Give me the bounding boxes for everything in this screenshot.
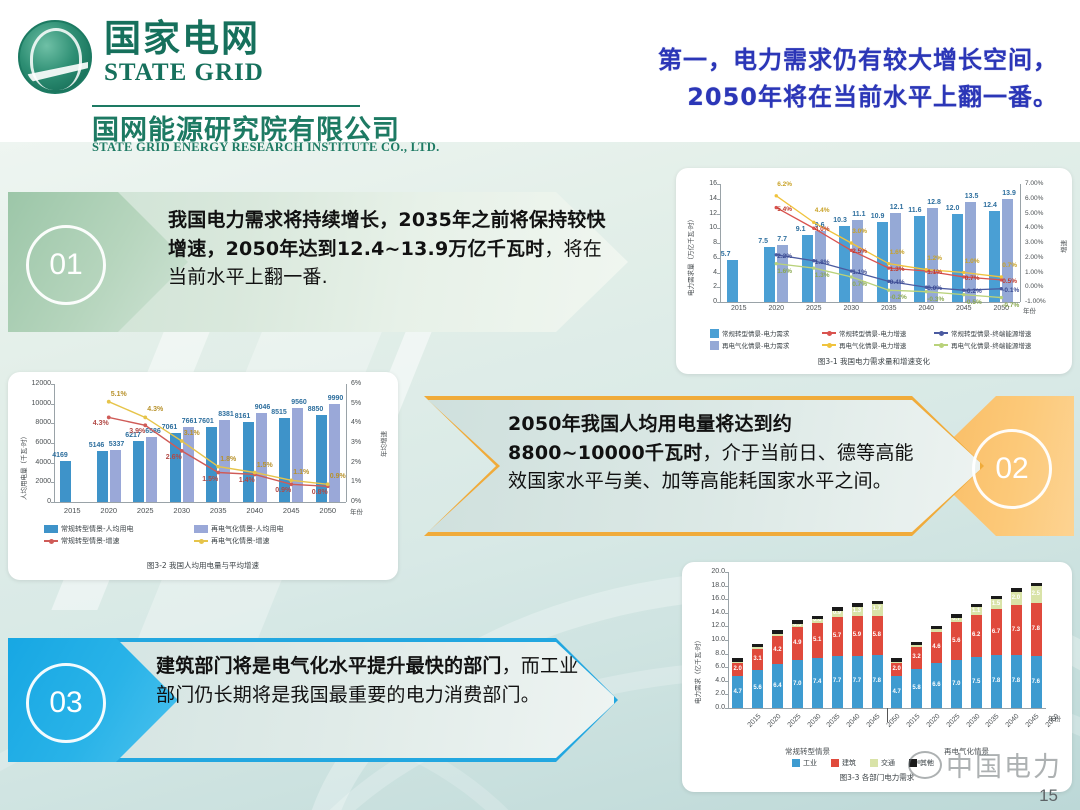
legend-item[interactable]: 常规转型情景-增速 xyxy=(44,536,194,546)
segment-value-label[interactable]: 2.0 xyxy=(733,666,741,672)
segment-value-label[interactable]: 7.8 xyxy=(1032,626,1040,632)
segment-value-label[interactable]: 5.1 xyxy=(813,637,821,643)
pct-label-conventional[interactable]: 0.9% xyxy=(275,487,291,494)
bar-value-label[interactable]: 7.5 xyxy=(758,238,768,245)
segment-value-label[interactable]: 7.8 xyxy=(873,678,881,684)
y2-tick-label[interactable]: 5% xyxy=(351,400,361,407)
x-tick-label[interactable]: 2045 xyxy=(1025,713,1041,729)
segment-value-label[interactable]: 7.0 xyxy=(793,681,801,687)
y-tick-label[interactable]: 10.0 xyxy=(706,636,725,643)
legend-swatch[interactable] xyxy=(710,341,719,350)
y-tick[interactable] xyxy=(725,599,728,600)
stack-segment-other[interactable] xyxy=(931,626,942,629)
y-tick[interactable] xyxy=(725,694,728,695)
y-tick-label[interactable]: 10 xyxy=(704,224,717,231)
y-tick-label[interactable]: 2.0 xyxy=(706,690,725,697)
x-tick-label[interactable]: 2050 xyxy=(886,713,902,729)
segment-value-label[interactable]: 3.2 xyxy=(912,654,920,660)
bar-reelectrification[interactable] xyxy=(329,404,340,502)
pct-label[interactable]: 0.4% xyxy=(890,279,905,286)
legend-label[interactable]: 常规转型情景-电力需求 xyxy=(722,328,789,338)
bar-reelectrification[interactable] xyxy=(890,213,901,302)
bar-value-label[interactable]: 12.1 xyxy=(890,204,904,211)
pct-label-conventional[interactable]: 3.9% xyxy=(129,428,145,435)
x-tick-label[interactable]: 2025 xyxy=(786,713,802,729)
y-tick[interactable] xyxy=(725,708,728,709)
pct-label-reelectrification[interactable]: 5.1% xyxy=(111,391,127,398)
legend-line[interactable] xyxy=(822,344,836,346)
stack-segment-other[interactable] xyxy=(812,616,823,619)
bar-reelectrification[interactable] xyxy=(256,413,267,502)
segment-value-label[interactable]: 6.7 xyxy=(992,629,1000,635)
bar-value-label[interactable]: 7061 xyxy=(162,424,178,431)
bar-conventional[interactable] xyxy=(97,451,108,502)
y2-tick-label[interactable]: 4% xyxy=(351,419,361,426)
bar-value-label[interactable]: 8161 xyxy=(235,413,251,420)
x-tick-label[interactable]: 2045 xyxy=(866,713,882,729)
bar-conventional[interactable] xyxy=(839,226,850,302)
stack-segment-transport[interactable] xyxy=(732,662,743,663)
pct-label[interactable]: 1.1% xyxy=(927,269,942,276)
x-tick-label[interactable]: 2025 xyxy=(127,506,164,515)
bar-conventional[interactable] xyxy=(764,247,775,302)
pct-label[interactable]: -0.7% xyxy=(1002,302,1019,309)
segment-value-label[interactable]: 6.6 xyxy=(932,682,940,688)
pct-label[interactable]: -0.5% xyxy=(965,299,982,306)
pct-label[interactable]: 0.0% xyxy=(927,285,942,292)
bar-value-label[interactable]: 7601 xyxy=(198,418,214,425)
chart-legend[interactable]: 常规转型情景-人均用电再电气化情景-人均用电常规转型情景-增速再电气化情景-增速 xyxy=(44,524,364,548)
pct-label-conventional[interactable]: 0.8% xyxy=(312,489,328,496)
bar-reelectrification[interactable] xyxy=(815,231,826,302)
y-tick-label[interactable]: 8 xyxy=(704,239,717,246)
pct-label[interactable]: 1.3% xyxy=(890,266,905,273)
bar-conventional[interactable] xyxy=(952,214,963,303)
x-tick-label[interactable]: 2040 xyxy=(1005,713,1021,729)
segment-value-label[interactable]: 6.4 xyxy=(773,683,781,689)
x-tick-label[interactable]: 2030 xyxy=(806,713,822,729)
segment-value-label[interactable]: 7.6 xyxy=(1032,679,1040,685)
pct-label[interactable]: -0.2% xyxy=(890,294,907,301)
y-tick-label[interactable]: 14 xyxy=(704,195,717,202)
segment-value-label[interactable]: 1.7 xyxy=(873,606,881,612)
x-tick-label[interactable]: 2030 xyxy=(164,506,201,515)
legend-item[interactable]: 工业 xyxy=(792,758,817,768)
y-tick[interactable] xyxy=(717,302,720,303)
bar-value-label[interactable]: 13.9 xyxy=(1002,190,1016,197)
stack-segment-other[interactable] xyxy=(792,620,803,623)
bar-value-label[interactable]: 6586 xyxy=(145,428,161,435)
y2-tick-label[interactable]: -1.00% xyxy=(1025,298,1046,305)
y-tick-label[interactable]: 12.0 xyxy=(706,622,725,629)
x-axis-label[interactable]: 年份 xyxy=(1023,305,1036,315)
legend-swatch[interactable] xyxy=(831,759,839,767)
segment-value-label[interactable]: 5.6 xyxy=(952,638,960,644)
pct-label-conventional[interactable]: 1.4% xyxy=(239,477,255,484)
legend-item[interactable]: 再电气化情景-电力增速 xyxy=(822,340,934,350)
pct-label[interactable]: 1.6% xyxy=(890,249,905,256)
y-tick[interactable] xyxy=(717,184,720,185)
legend-label[interactable]: 常规转型情景-终端能源增速 xyxy=(951,328,1031,338)
y2-axis[interactable] xyxy=(346,384,347,502)
segment-value-label[interactable]: 3.1 xyxy=(753,656,761,662)
segment-value-label[interactable]: 4.7 xyxy=(733,689,741,695)
x-tick-label[interactable]: 2045 xyxy=(273,506,310,515)
segment-value-label[interactable]: 7.7 xyxy=(833,678,841,684)
y-tick[interactable] xyxy=(51,423,54,424)
segment-value-label[interactable]: 5.8 xyxy=(873,632,881,638)
x-tick-label[interactable]: 2035 xyxy=(985,713,1001,729)
pct-label[interactable]: 1.1% xyxy=(852,269,867,276)
y-tick-label[interactable]: 6.0 xyxy=(706,663,725,670)
pct-label[interactable]: 4.4% xyxy=(815,207,830,214)
stack-segment-transport[interactable] xyxy=(931,629,942,632)
pct-label[interactable]: 0.7% xyxy=(1002,262,1017,269)
y2-tick-label[interactable]: 7.00% xyxy=(1025,180,1043,187)
pct-label[interactable]: 1.0% xyxy=(965,258,980,265)
segment-value-label[interactable]: 0.9 xyxy=(833,610,841,616)
bar-conventional[interactable] xyxy=(60,461,71,502)
y-tick[interactable] xyxy=(51,384,54,385)
bar-value-label[interactable]: 11.1 xyxy=(852,211,865,218)
legend-item[interactable]: 交通 xyxy=(870,758,895,768)
segment-value-label[interactable]: 7.0 xyxy=(952,681,960,687)
legend-line[interactable] xyxy=(194,540,208,542)
segment-value-label[interactable]: 4.6 xyxy=(932,644,940,650)
segment-value-label[interactable]: 1.1 xyxy=(972,608,980,614)
segment-value-label[interactable]: 1.3 xyxy=(853,608,861,614)
legend-item[interactable]: 常规转型情景-电力增速 xyxy=(822,328,934,338)
legend-swatch[interactable] xyxy=(194,525,208,533)
y2-tick-label[interactable]: 0% xyxy=(351,498,361,505)
y2-axis-label[interactable]: 年均增速 xyxy=(378,431,388,457)
y-tick-label[interactable]: 16.0 xyxy=(706,595,725,602)
pct-label[interactable]: 0.7% xyxy=(965,275,980,282)
y-axis[interactable] xyxy=(54,384,55,502)
pct-label-conventional[interactable]: 2.6% xyxy=(166,454,182,461)
y2-tick-label[interactable]: 0.00% xyxy=(1025,283,1043,290)
legend-line[interactable] xyxy=(934,344,948,346)
pct-label[interactable]: -0.2% xyxy=(965,288,982,295)
y-tick-label[interactable]: 4000 xyxy=(28,459,51,466)
pct-label-conventional[interactable]: 4.3% xyxy=(93,420,109,427)
y-tick[interactable] xyxy=(725,586,728,587)
stack-segment-other[interactable] xyxy=(732,658,743,661)
pct-label-conventional[interactable]: 1.5% xyxy=(202,476,218,483)
bar-value-label[interactable]: 7.7 xyxy=(777,236,787,243)
bar-value-label[interactable]: 7661 xyxy=(182,418,198,425)
legend-line[interactable] xyxy=(44,540,58,542)
legend-item[interactable]: 常规转型情景-终端能源增速 xyxy=(934,328,1046,338)
bar-value-label[interactable]: 12.8 xyxy=(927,199,941,206)
stack-segment-transport[interactable] xyxy=(752,647,763,648)
y-tick[interactable] xyxy=(717,258,720,259)
y-tick[interactable] xyxy=(725,572,728,573)
bar-reelectrification[interactable] xyxy=(965,202,976,302)
stack-segment-transport[interactable] xyxy=(891,662,902,663)
pct-label[interactable]: 1.2% xyxy=(927,255,942,262)
y-tick-label[interactable]: 16 xyxy=(704,180,717,187)
pct-label[interactable]: 5.4% xyxy=(777,206,792,213)
segment-value-label[interactable]: 2.5 xyxy=(1032,591,1040,597)
segment-value-label[interactable]: 2.0 xyxy=(1012,595,1020,601)
pct-label-reelectrification[interactable]: 1.8% xyxy=(220,456,236,463)
chart-legend[interactable]: 常规转型情景-电力需求常规转型情景-电力增速常规转型情景-终端能源增速再电气化情… xyxy=(710,328,1060,352)
y-tick-label[interactable]: 8.0 xyxy=(706,650,725,657)
legend-label[interactable]: 常规转型情景-电力增速 xyxy=(839,328,906,338)
legend-swatch[interactable] xyxy=(792,759,800,767)
legend-label[interactable]: 再电气化情景-增速 xyxy=(211,536,270,546)
legend-item[interactable]: 再电气化情景-增速 xyxy=(194,536,344,546)
x-tick-label[interactable]: 2035 xyxy=(826,713,842,729)
pct-label[interactable]: 0.5% xyxy=(1002,278,1017,285)
x-tick-label[interactable]: 2025 xyxy=(795,305,833,312)
y2-tick-label[interactable]: 2.00% xyxy=(1025,254,1043,261)
stack-segment-other[interactable] xyxy=(772,630,783,633)
y2-axis[interactable] xyxy=(1020,184,1021,302)
x-tick-label[interactable]: 2020 xyxy=(766,713,782,729)
segment-value-label[interactable]: 5.6 xyxy=(753,685,761,691)
stack-segment-other[interactable] xyxy=(832,607,843,610)
y-axis[interactable] xyxy=(720,184,721,302)
pct-label-reelectrification[interactable]: 4.3% xyxy=(147,406,163,413)
y-axis[interactable] xyxy=(728,572,729,708)
x-axis-label[interactable]: 年份 xyxy=(1048,713,1061,723)
segment-value-label[interactable]: 4.2 xyxy=(773,647,781,653)
y-tick[interactable] xyxy=(725,667,728,668)
bar-value-label[interactable]: 5.7 xyxy=(721,251,731,258)
stack-segment-other[interactable] xyxy=(752,644,763,647)
y-tick[interactable] xyxy=(717,243,720,244)
stack-segment-other[interactable] xyxy=(951,614,962,617)
y-tick[interactable] xyxy=(51,404,54,405)
segment-value-label[interactable]: 7.8 xyxy=(1012,678,1020,684)
legend-item[interactable]: 常规转型情景-电力需求 xyxy=(710,328,822,338)
y-axis-label[interactable]: 人均用电量（千瓦·时） xyxy=(18,433,28,500)
y-tick-label[interactable]: 12000 xyxy=(28,380,51,387)
legend-item[interactable]: 再电气化情景-终端能源增速 xyxy=(934,340,1046,350)
x-tick-label[interactable]: 2045 xyxy=(945,305,983,312)
x-tick-label[interactable]: 2035 xyxy=(200,506,237,515)
y-tick-label[interactable]: 2000 xyxy=(28,478,51,485)
figure-caption[interactable]: 图3-2 我国人均用电量与平均增速 xyxy=(8,560,398,571)
stack-segment-other[interactable] xyxy=(991,596,1002,599)
bar-reelectrification[interactable] xyxy=(292,408,303,502)
stack-segment-other[interactable] xyxy=(891,658,902,661)
y-tick[interactable] xyxy=(717,199,720,200)
y2-axis-label[interactable]: 增速 xyxy=(1058,240,1068,253)
y-tick-label[interactable]: 14.0 xyxy=(706,609,725,616)
legend-line[interactable] xyxy=(934,332,948,334)
segment-value-label[interactable]: 4.9 xyxy=(793,640,801,646)
legend-item[interactable]: 再电气化情景-电力需求 xyxy=(710,340,822,350)
x-tick-label[interactable]: 2020 xyxy=(758,305,796,312)
bar-conventional[interactable] xyxy=(989,211,1000,302)
y2-tick-label[interactable]: 1% xyxy=(351,478,361,485)
pct-label[interactable]: 3.0% xyxy=(852,228,867,235)
bar-reelectrification[interactable] xyxy=(183,427,194,502)
pct-label-reelectrification[interactable]: 3.1% xyxy=(184,430,200,437)
y-tick-label[interactable]: 6 xyxy=(704,254,717,261)
segment-value-label[interactable]: 2.0 xyxy=(892,666,900,672)
segment-value-label[interactable]: 4.7 xyxy=(892,689,900,695)
y-tick-label[interactable]: 4.0 xyxy=(706,677,725,684)
y-tick-label[interactable]: 6000 xyxy=(28,439,51,446)
bar-conventional[interactable] xyxy=(727,260,738,302)
y2-tick-label[interactable]: 6.00% xyxy=(1025,195,1043,202)
bar-conventional[interactable] xyxy=(170,433,181,502)
legend-swatch[interactable] xyxy=(44,525,58,533)
bar-conventional[interactable] xyxy=(206,427,217,502)
y-tick-label[interactable]: 2 xyxy=(704,283,717,290)
bar-reelectrification[interactable] xyxy=(110,450,121,502)
pct-label[interactable]: 4.0% xyxy=(815,226,830,233)
segment-value-label[interactable]: 1.5 xyxy=(992,601,1000,607)
x-tick-label[interactable]: 2015 xyxy=(906,713,922,729)
bar-conventional[interactable] xyxy=(802,235,813,302)
legend-item[interactable]: 再电气化情景-人均用电 xyxy=(194,524,344,534)
y-tick-label[interactable]: 20.0 xyxy=(706,568,725,575)
legend-label[interactable]: 常规转型情景-人均用电 xyxy=(61,524,134,534)
y-tick[interactable] xyxy=(725,640,728,641)
pct-label-reelectrification[interactable]: 1.5% xyxy=(257,462,273,469)
pct-label[interactable]: 1.8% xyxy=(815,259,830,266)
y-tick-label[interactable]: 0 xyxy=(704,298,717,305)
bar-value-label[interactable]: 9560 xyxy=(291,399,307,406)
legend-item[interactable]: 建筑 xyxy=(831,758,856,768)
x-tick-label[interactable]: 2030 xyxy=(965,713,981,729)
y-axis-label[interactable]: 电力需求量（万亿千瓦·时） xyxy=(685,216,695,296)
pct-label-reelectrification[interactable]: 1.1% xyxy=(293,469,309,476)
y2-tick-label[interactable]: 3% xyxy=(351,439,361,446)
bar-value-label[interactable]: 11.6 xyxy=(908,207,921,214)
legend-item[interactable]: 常规转型情景-人均用电 xyxy=(44,524,194,534)
y-tick-label[interactable]: 10000 xyxy=(28,400,51,407)
x-tick-label[interactable]: 2050 xyxy=(310,506,347,515)
bar-value-label[interactable]: 13.5 xyxy=(965,193,979,200)
pct-label[interactable]: 6.2% xyxy=(777,181,792,188)
y-tick[interactable] xyxy=(717,287,720,288)
pct-label[interactable]: 2.5% xyxy=(852,248,867,255)
bar-value-label[interactable]: 8381 xyxy=(218,411,234,418)
y2-tick-label[interactable]: 4.00% xyxy=(1025,224,1043,231)
segment-value-label[interactable]: 6.2 xyxy=(972,632,980,638)
x-axis-label[interactable]: 年份 xyxy=(350,506,363,516)
y-tick[interactable] xyxy=(717,273,720,274)
bar-conventional[interactable] xyxy=(243,422,254,502)
legend-label[interactable]: 常规转型情景-增速 xyxy=(61,536,120,546)
y-tick[interactable] xyxy=(725,654,728,655)
pct-label[interactable]: -0.1% xyxy=(1002,287,1019,294)
bar-conventional[interactable] xyxy=(133,441,144,502)
y-tick[interactable] xyxy=(51,502,54,503)
bar-value-label[interactable]: 5337 xyxy=(109,441,125,448)
segment-value-label[interactable]: 5.9 xyxy=(853,632,861,638)
stack-segment-other[interactable] xyxy=(872,601,883,604)
legend-swatch[interactable] xyxy=(710,329,719,338)
x-tick-label[interactable]: 2015 xyxy=(54,506,91,515)
y-tick[interactable] xyxy=(725,613,728,614)
segment-value-label[interactable]: 7.8 xyxy=(992,678,1000,684)
stack-segment-transport[interactable] xyxy=(911,645,922,646)
group-label[interactable]: 常规转型情景 xyxy=(728,746,887,757)
legend-label[interactable]: 工业 xyxy=(803,758,817,768)
bar-value-label[interactable]: 8850 xyxy=(308,406,324,413)
y-tick[interactable] xyxy=(717,228,720,229)
bar-value-label[interactable]: 10.9 xyxy=(871,213,885,220)
y-tick-label[interactable]: 0.0 xyxy=(706,704,725,711)
legend-label[interactable]: 建筑 xyxy=(842,758,856,768)
stack-segment-other[interactable] xyxy=(852,603,863,606)
x-tick-label[interactable]: 2020 xyxy=(925,713,941,729)
stack-segment-other[interactable] xyxy=(971,604,982,607)
x-tick-label[interactable]: 2020 xyxy=(91,506,128,515)
y-tick-label[interactable]: 4 xyxy=(704,269,717,276)
legend-label[interactable]: 再电气化情景-电力增速 xyxy=(839,340,906,350)
bar-value-label[interactable]: 9.1 xyxy=(796,226,806,233)
bar-conventional[interactable] xyxy=(914,216,925,302)
bar-value-label[interactable]: 9046 xyxy=(255,404,271,411)
x-tick-label[interactable]: 2040 xyxy=(846,713,862,729)
y-tick[interactable] xyxy=(717,214,720,215)
stack-segment-other[interactable] xyxy=(911,642,922,645)
x-tick-label[interactable]: 2030 xyxy=(833,305,871,312)
pct-label-reelectrification[interactable]: 0.9% xyxy=(330,473,346,480)
pct-label[interactable]: 1.3% xyxy=(815,272,830,279)
x-tick-label[interactable]: 2015 xyxy=(720,305,758,312)
y2-tick-label[interactable]: 6% xyxy=(351,380,361,387)
bar-value-label[interactable]: 8515 xyxy=(271,409,287,416)
x-tick-label[interactable]: 2040 xyxy=(908,305,946,312)
y-tick[interactable] xyxy=(51,443,54,444)
legend-label[interactable]: 再电气化情景-人均用电 xyxy=(211,524,284,534)
pct-label[interactable]: 0.7% xyxy=(852,281,867,288)
y2-tick-label[interactable]: 5.00% xyxy=(1025,210,1043,217)
y-tick[interactable] xyxy=(51,482,54,483)
x-tick-label[interactable]: 2025 xyxy=(945,713,961,729)
legend-line[interactable] xyxy=(822,332,836,334)
x-tick-label[interactable]: 2015 xyxy=(747,713,763,729)
bar-value-label[interactable]: 9990 xyxy=(328,395,344,402)
stack-segment-other[interactable] xyxy=(1011,588,1022,591)
y2-tick-label[interactable]: 3.00% xyxy=(1025,239,1043,246)
segment-value-label[interactable]: 5.8 xyxy=(912,685,920,691)
segment-value-label[interactable]: 7.3 xyxy=(1012,627,1020,633)
y-tick-label[interactable]: 18.0 xyxy=(706,582,725,589)
y-tick-label[interactable]: 0 xyxy=(28,498,51,505)
legend-label[interactable]: 再电气化情景-电力需求 xyxy=(722,340,789,350)
pct-label[interactable]: 1.6% xyxy=(777,268,792,275)
y2-tick-label[interactable]: 1.00% xyxy=(1025,269,1043,276)
bar-value-label[interactable]: 12.4 xyxy=(983,202,997,209)
segment-value-label[interactable]: 7.5 xyxy=(972,679,980,685)
legend-swatch[interactable] xyxy=(870,759,878,767)
bar-value-label[interactable]: 12.0 xyxy=(946,205,960,212)
y-tick-label[interactable]: 12 xyxy=(704,210,717,217)
stack-segment-other[interactable] xyxy=(1031,583,1042,586)
bar-conventional[interactable] xyxy=(877,222,888,302)
stack-segment-transport[interactable] xyxy=(772,634,783,636)
segment-value-label[interactable]: 5.7 xyxy=(833,633,841,639)
pct-label[interactable]: -0.3% xyxy=(927,296,944,303)
y-tick[interactable] xyxy=(51,463,54,464)
bar-value-label[interactable]: 10.3 xyxy=(833,217,847,224)
y-tick[interactable] xyxy=(725,626,728,627)
x-tick-label[interactable]: 2040 xyxy=(237,506,274,515)
y-axis-label[interactable]: 电力需求（亿千瓦·时） xyxy=(692,637,702,704)
bar-value-label[interactable]: 5146 xyxy=(89,442,105,449)
legend-label[interactable]: 再电气化情景-终端能源增速 xyxy=(951,340,1031,350)
